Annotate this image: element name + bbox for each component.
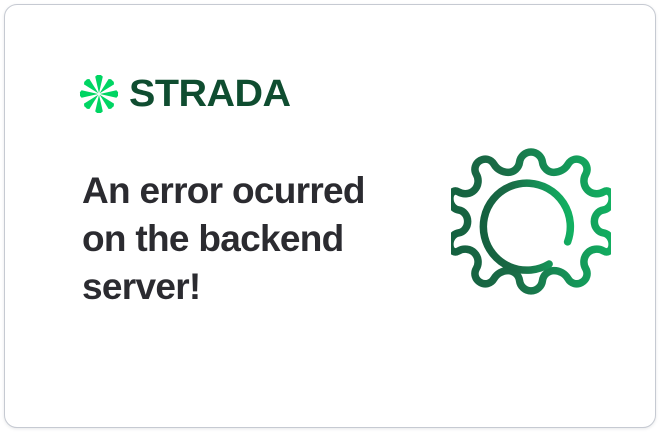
gear-icon: [451, 144, 611, 304]
strada-asterisk-icon: [79, 74, 119, 114]
brand-wordmark: STRADA: [129, 75, 291, 113]
brand-logo: STRADA: [79, 74, 284, 114]
error-message: An error ocurred on the backend server!: [82, 167, 372, 311]
error-card: STRADA An error ocurred on the backend s…: [4, 4, 656, 428]
